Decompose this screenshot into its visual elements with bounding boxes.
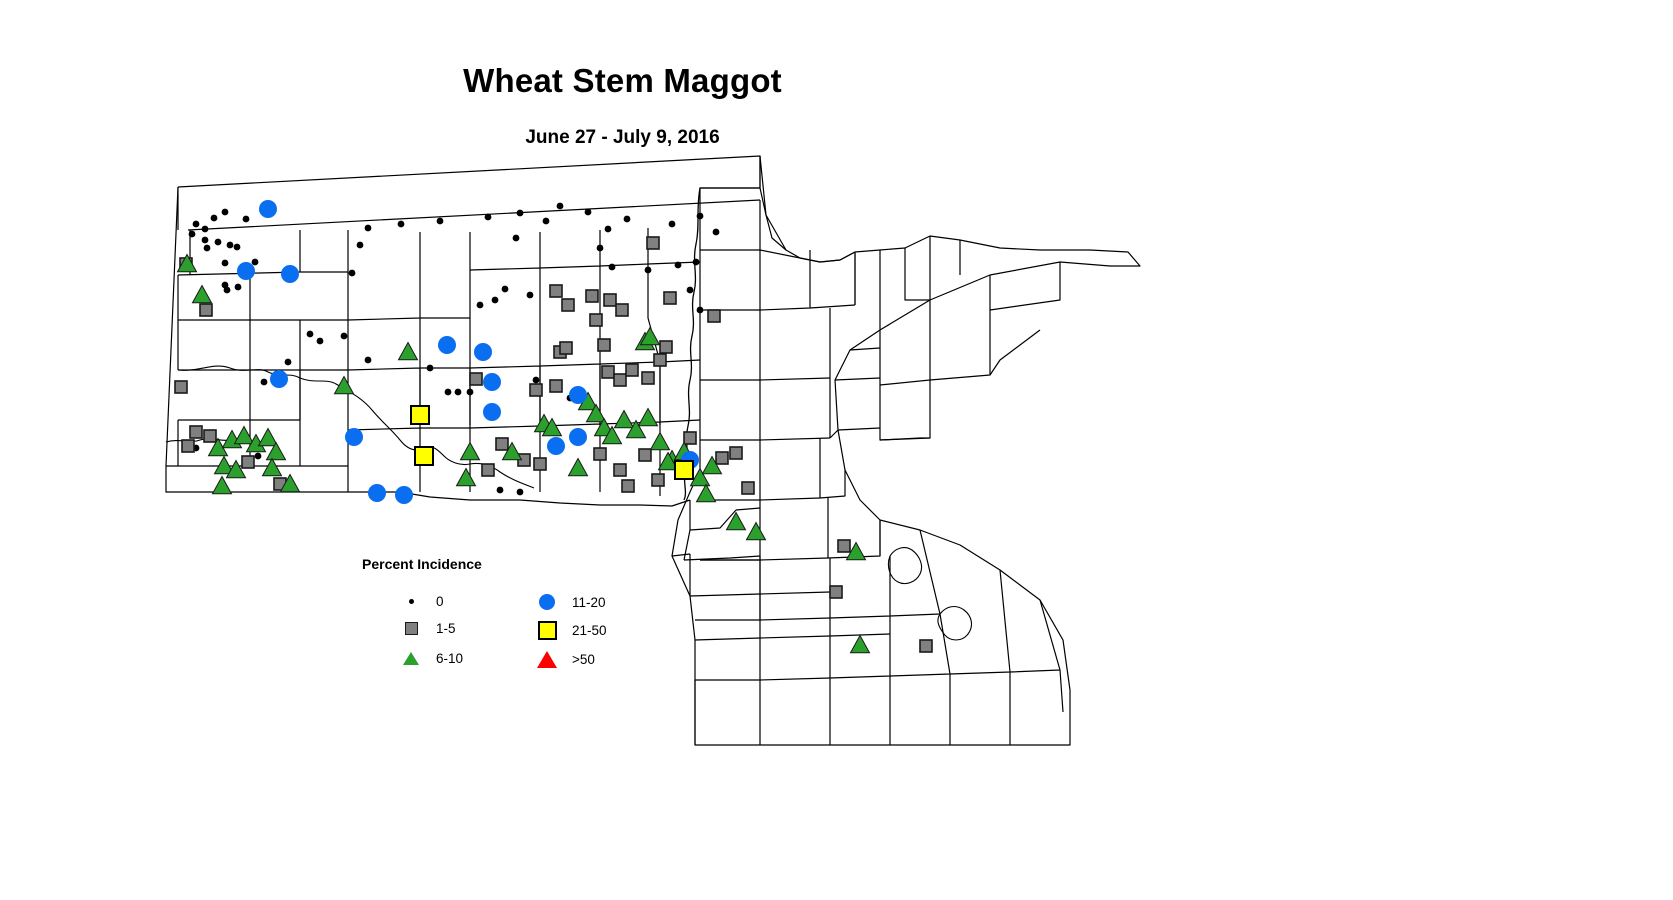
- marker-dot: [227, 242, 234, 249]
- legend: Percent Incidence 0 1-5 6-10 11-20 21-50…: [360, 552, 600, 680]
- marker-yellow-square: [415, 447, 433, 465]
- marker-dot: [543, 218, 550, 225]
- marker-green-triangle: [235, 427, 254, 444]
- marker-blue-circle: [395, 486, 413, 504]
- marker-dot: [234, 244, 241, 251]
- marker-gray-square: [654, 354, 666, 366]
- marker-dot: [211, 215, 218, 222]
- marker-dot: [398, 221, 405, 228]
- marker-blue-circle: [368, 484, 386, 502]
- marker-gray-square: [242, 456, 254, 468]
- marker-dot: [222, 209, 229, 216]
- marker-gray-square: [614, 464, 626, 476]
- marker-yellow-square: [675, 461, 693, 479]
- marker-green-triangle: [697, 485, 716, 502]
- marker-gray-square: [708, 310, 720, 322]
- marker-dot: [517, 210, 524, 217]
- marker-gray-square: [550, 380, 562, 392]
- marker-dot: [427, 365, 434, 372]
- marker-dot: [492, 297, 499, 304]
- marker-dot: [437, 218, 444, 225]
- marker-gray-square: [598, 339, 610, 351]
- marker-dot: [697, 213, 704, 220]
- marker-gray-square: [830, 586, 842, 598]
- marker-dot: [252, 259, 259, 266]
- marker-gray-square: [684, 432, 696, 444]
- marker-dot: [193, 221, 200, 228]
- marker-dot: [624, 216, 631, 223]
- marker-green-triangle: [263, 459, 282, 476]
- marker-blue-circle: [438, 336, 456, 354]
- marker-gray-square: [560, 342, 572, 354]
- marker-blue-circle: [483, 373, 501, 391]
- marker-dot: [517, 489, 524, 496]
- red-triangle-icon: [536, 651, 558, 668]
- marker-dot: [349, 270, 356, 277]
- legend-label: 6-10: [436, 651, 463, 666]
- gray-square-icon: [400, 622, 422, 635]
- marker-dot: [477, 302, 484, 309]
- marker-dot: [467, 389, 474, 396]
- marker-gray-square: [562, 299, 574, 311]
- marker-blue-circle: [569, 386, 587, 404]
- marker-dot: [605, 226, 612, 233]
- marker-gray-square: [550, 285, 562, 297]
- marker-dot: [533, 377, 540, 384]
- marker-green-triangle: [851, 636, 870, 653]
- marker-gray-square: [530, 384, 542, 396]
- marker-dot: [687, 287, 694, 294]
- marker-dot: [513, 235, 520, 242]
- legend-label: 1-5: [436, 621, 456, 636]
- marker-dot: [285, 359, 292, 366]
- marker-gray-square: [482, 464, 494, 476]
- marker-gray-square: [660, 341, 672, 353]
- marker-gray-square: [639, 449, 651, 461]
- marker-gray-square: [496, 438, 508, 450]
- marker-gray-square: [622, 480, 634, 492]
- marker-green-triangle: [569, 459, 588, 476]
- marker-blue-circle: [474, 343, 492, 361]
- marker-green-triangle: [399, 343, 418, 360]
- marker-blue-circle: [483, 403, 501, 421]
- legend-label: 11-20: [572, 595, 606, 610]
- legend-item-21-50: 21-50: [536, 621, 607, 640]
- legend-label: 21-50: [572, 623, 607, 638]
- marker-dot: [669, 221, 676, 228]
- marker-green-triangle: [651, 433, 670, 450]
- marker-dot: [222, 260, 229, 267]
- marker-dot: [497, 487, 504, 494]
- marker-gray-square: [642, 372, 654, 384]
- marker-gray-square: [604, 294, 616, 306]
- marker-green-triangle: [461, 443, 480, 460]
- marker-gray-square: [594, 448, 606, 460]
- incidence-markers: [0, 0, 1673, 900]
- marker-dot: [255, 453, 262, 460]
- legend-label: 0: [436, 594, 444, 609]
- marker-green-triangle: [615, 411, 634, 428]
- marker-dot: [557, 203, 564, 210]
- marker-gray-square: [534, 458, 546, 470]
- marker-gray-square: [616, 304, 628, 316]
- marker-dot: [693, 259, 700, 266]
- marker-dot: [307, 331, 314, 338]
- marker-dot: [485, 214, 492, 221]
- legend-item-0: 0: [400, 594, 444, 609]
- marker-dot: [675, 262, 682, 269]
- marker-blue-circle: [270, 370, 288, 388]
- marker-gray-square: [716, 452, 728, 464]
- black-dot-icon: [400, 599, 422, 604]
- marker-dot: [204, 245, 211, 252]
- marker-dot: [502, 286, 509, 293]
- marker-blue-circle: [569, 428, 587, 446]
- marker-dot: [597, 245, 604, 252]
- marker-green-triangle: [259, 429, 278, 446]
- green-triangle-icon: [400, 652, 422, 665]
- marker-gray-square: [838, 540, 850, 552]
- marker-dot: [224, 287, 231, 294]
- marker-gray-square: [664, 292, 676, 304]
- marker-gray-square: [920, 640, 932, 652]
- marker-dot: [215, 239, 222, 246]
- marker-dot: [365, 357, 372, 364]
- yellow-square-icon: [536, 621, 558, 640]
- marker-dot: [202, 237, 209, 244]
- marker-blue-circle: [281, 265, 299, 283]
- marker-dot: [357, 242, 364, 249]
- marker-dot: [609, 264, 616, 271]
- legend-title: Percent Incidence: [362, 556, 482, 572]
- marker-green-triangle: [639, 409, 658, 426]
- marker-gray-square: [614, 374, 626, 386]
- marker-blue-circle: [547, 437, 565, 455]
- map-figure: Wheat Stem Maggot June 27 - July 9, 2016: [0, 0, 1673, 900]
- marker-gray-square: [204, 430, 216, 442]
- marker-dot: [235, 284, 242, 291]
- marker-green-triangle: [335, 377, 354, 394]
- marker-dot: [261, 379, 268, 386]
- marker-dot: [365, 225, 372, 232]
- legend-item-11-20: 11-20: [536, 594, 606, 610]
- marker-dot: [202, 226, 209, 233]
- marker-dot: [697, 307, 704, 314]
- marker-dot: [455, 389, 462, 396]
- marker-gray-square: [590, 314, 602, 326]
- marker-dot: [585, 209, 592, 216]
- marker-gray-square: [470, 373, 482, 385]
- marker-dot: [445, 389, 452, 396]
- marker-yellow-square: [411, 406, 429, 424]
- marker-green-triangle: [193, 286, 212, 303]
- blue-circle-icon: [536, 594, 558, 610]
- marker-gray-square: [626, 364, 638, 376]
- marker-dot: [527, 292, 534, 299]
- marker-gray-square: [175, 381, 187, 393]
- marker-gray-square: [190, 426, 202, 438]
- marker-blue-circle: [345, 428, 363, 446]
- marker-blue-circle: [237, 262, 255, 280]
- legend-item-6-10: 6-10: [400, 651, 463, 666]
- marker-dot: [341, 333, 348, 340]
- marker-gray-square: [742, 482, 754, 494]
- marker-dot: [317, 338, 324, 345]
- legend-item-over-50: >50: [536, 651, 595, 668]
- marker-gray-square: [182, 440, 194, 452]
- marker-green-triangle: [457, 469, 476, 486]
- marker-dot: [243, 216, 250, 223]
- marker-green-triangle: [727, 513, 746, 530]
- marker-dot: [713, 229, 720, 236]
- marker-blue-circle: [259, 200, 277, 218]
- marker-gray-square: [586, 290, 598, 302]
- legend-label: >50: [572, 652, 595, 667]
- marker-gray-square: [730, 447, 742, 459]
- marker-gray-square: [602, 366, 614, 378]
- marker-gray-square: [647, 237, 659, 249]
- marker-green-triangle: [747, 523, 766, 540]
- marker-green-triangle: [213, 477, 232, 494]
- marker-dot: [645, 267, 652, 274]
- marker-dot: [189, 231, 196, 238]
- marker-gray-square: [652, 474, 664, 486]
- marker-gray-square: [200, 304, 212, 316]
- legend-item-1-5: 1-5: [400, 621, 456, 636]
